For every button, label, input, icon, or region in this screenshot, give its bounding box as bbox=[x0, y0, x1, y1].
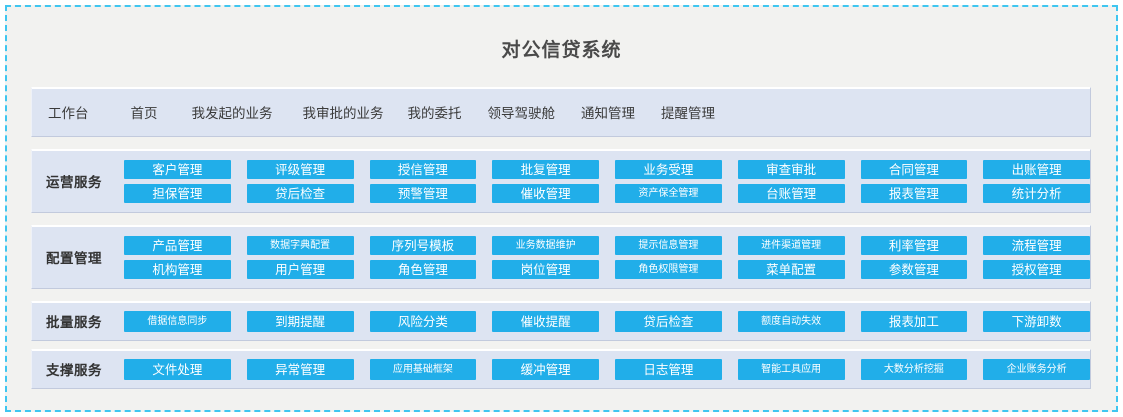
section-batch-services: 批量服务 借据信息同步到期提醒风险分类催收提醒贷后检查额度自动失效报表加工下游卸… bbox=[31, 301, 1091, 341]
section-label-config: 配置管理 bbox=[46, 247, 124, 267]
module-tile[interactable]: 客户管理 bbox=[124, 160, 231, 179]
module-tile[interactable]: 台账管理 bbox=[738, 184, 845, 203]
top-navigation-bar: 工作台首页我发起的业务我审批的业务我的委托领导驾驶舱通知管理提醒管理 bbox=[31, 87, 1091, 137]
module-tile[interactable]: 下游卸数 bbox=[983, 311, 1090, 332]
module-tile[interactable]: 催收提醒 bbox=[492, 311, 599, 332]
module-tile[interactable]: 业务数据维护 bbox=[492, 236, 599, 255]
module-tile[interactable]: 数据字典配置 bbox=[247, 236, 354, 255]
module-tile[interactable]: 提示信息管理 bbox=[615, 236, 722, 255]
module-tile[interactable]: 报表管理 bbox=[861, 184, 968, 203]
page-canvas: 对公信贷系统 工作台首页我发起的业务我审批的业务我的委托领导驾驶舱通知管理提醒管… bbox=[13, 13, 1110, 404]
module-tile[interactable]: 大数分析挖掘 bbox=[861, 359, 968, 380]
module-tile[interactable]: 批复管理 bbox=[492, 160, 599, 179]
module-tile[interactable]: 角色权限管理 bbox=[615, 260, 722, 279]
module-tile[interactable]: 机构管理 bbox=[124, 260, 231, 279]
module-tile[interactable]: 企业账务分析 bbox=[983, 359, 1090, 380]
module-tile[interactable]: 菜单配置 bbox=[738, 260, 845, 279]
nav-item-6[interactable]: 领导驾驶舱 bbox=[488, 102, 556, 122]
nav-list: 工作台首页我发起的业务我审批的业务我的委托领导驾驶舱通知管理提醒管理 bbox=[32, 88, 1090, 136]
module-tile[interactable]: 合同管理 bbox=[861, 160, 968, 179]
module-tile[interactable]: 智能工具应用 bbox=[738, 359, 845, 380]
module-tile[interactable]: 文件处理 bbox=[124, 359, 231, 380]
module-tile[interactable]: 贷后检查 bbox=[615, 311, 722, 332]
module-tile[interactable]: 授权管理 bbox=[983, 260, 1090, 279]
module-tile[interactable]: 审查审批 bbox=[738, 160, 845, 179]
module-tile[interactable]: 借据信息同步 bbox=[124, 311, 231, 332]
section-support-services: 支撑服务 文件处理异常管理应用基础框架缓冲管理日志管理智能工具应用大数分析挖掘企… bbox=[31, 349, 1091, 389]
nav-item-5[interactable]: 我的委托 bbox=[408, 102, 462, 122]
module-tile[interactable]: 统计分析 bbox=[983, 184, 1090, 203]
page-title: 对公信贷系统 bbox=[13, 35, 1110, 62]
nav-item-7[interactable]: 通知管理 bbox=[581, 102, 635, 122]
module-tile[interactable]: 缓冲管理 bbox=[492, 359, 599, 380]
tile-grid-operation: 客户管理评级管理授信管理批复管理业务受理审查审批合同管理出账管理担保管理贷后检查… bbox=[124, 160, 1090, 203]
module-tile[interactable]: 催收管理 bbox=[492, 184, 599, 203]
module-tile[interactable]: 贷后检查 bbox=[247, 184, 354, 203]
section-configuration-management: 配置管理 产品管理数据字典配置序列号模板业务数据维护提示信息管理进件渠道管理利率… bbox=[31, 225, 1091, 289]
module-tile[interactable]: 授信管理 bbox=[370, 160, 477, 179]
module-tile[interactable]: 额度自动失效 bbox=[738, 311, 845, 332]
module-tile[interactable]: 进件渠道管理 bbox=[738, 236, 845, 255]
module-tile[interactable]: 用户管理 bbox=[247, 260, 354, 279]
module-tile[interactable]: 报表加工 bbox=[861, 311, 968, 332]
nav-item-2[interactable]: 首页 bbox=[131, 102, 158, 122]
module-tile[interactable]: 业务受理 bbox=[615, 160, 722, 179]
module-tile[interactable]: 岗位管理 bbox=[492, 260, 599, 279]
app-window-frame: 对公信贷系统 工作台首页我发起的业务我审批的业务我的委托领导驾驶舱通知管理提醒管… bbox=[5, 5, 1118, 412]
module-tile[interactable]: 担保管理 bbox=[124, 184, 231, 203]
section-label-support: 支撑服务 bbox=[46, 359, 124, 379]
section-operation-services: 运营服务 客户管理评级管理授信管理批复管理业务受理审查审批合同管理出账管理担保管… bbox=[31, 149, 1091, 213]
module-tile[interactable]: 预警管理 bbox=[370, 184, 477, 203]
nav-item-1[interactable]: 工作台 bbox=[48, 102, 89, 122]
module-tile[interactable]: 出账管理 bbox=[983, 160, 1090, 179]
module-tile[interactable]: 到期提醒 bbox=[247, 311, 354, 332]
module-tile[interactable]: 评级管理 bbox=[247, 160, 354, 179]
nav-item-4[interactable]: 我审批的业务 bbox=[303, 102, 384, 122]
tile-grid-batch: 借据信息同步到期提醒风险分类催收提醒贷后检查额度自动失效报表加工下游卸数 bbox=[124, 311, 1090, 332]
module-tile[interactable]: 风险分类 bbox=[370, 311, 477, 332]
module-tile[interactable]: 流程管理 bbox=[983, 236, 1090, 255]
section-label-operation: 运营服务 bbox=[46, 171, 124, 191]
module-tile[interactable]: 产品管理 bbox=[124, 236, 231, 255]
module-tile[interactable]: 异常管理 bbox=[247, 359, 354, 380]
nav-item-8[interactable]: 提醒管理 bbox=[661, 102, 715, 122]
module-tile[interactable]: 日志管理 bbox=[615, 359, 722, 380]
section-label-batch: 批量服务 bbox=[46, 311, 124, 331]
module-tile[interactable]: 参数管理 bbox=[861, 260, 968, 279]
nav-item-3[interactable]: 我发起的业务 bbox=[192, 102, 273, 122]
module-tile[interactable]: 序列号模板 bbox=[370, 236, 477, 255]
module-tile[interactable]: 应用基础框架 bbox=[370, 359, 477, 380]
tile-grid-support: 文件处理异常管理应用基础框架缓冲管理日志管理智能工具应用大数分析挖掘企业账务分析 bbox=[124, 359, 1090, 380]
module-tile[interactable]: 资产保全管理 bbox=[615, 184, 722, 203]
module-tile[interactable]: 角色管理 bbox=[370, 260, 477, 279]
tile-grid-config: 产品管理数据字典配置序列号模板业务数据维护提示信息管理进件渠道管理利率管理流程管… bbox=[124, 236, 1090, 279]
module-tile[interactable]: 利率管理 bbox=[861, 236, 968, 255]
